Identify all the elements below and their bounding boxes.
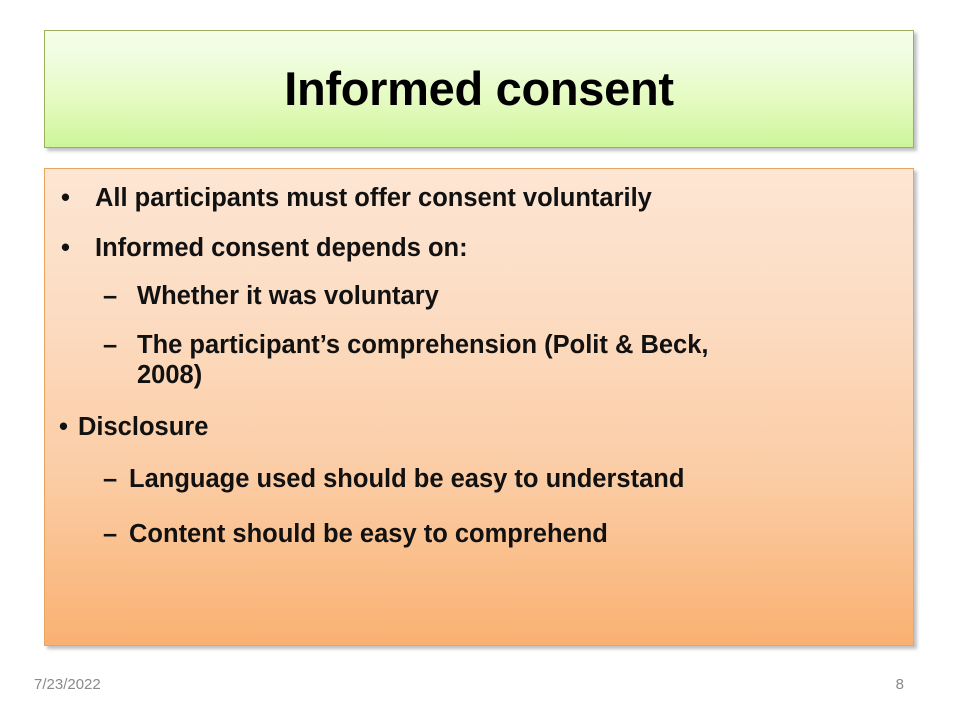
bullet-dash-icon: – [103, 464, 129, 495]
sub-list-item-label: Content should be easy to comprehend [129, 520, 608, 548]
bullet-dot-icon: • [61, 183, 83, 213]
sub-list-item[interactable]: – Language used should be easy to unders… [45, 464, 899, 495]
bullet-dash-icon: – [103, 330, 129, 361]
list-item[interactable]: • Informed consent depends on: [45, 233, 899, 263]
footer-date: 7/23/2022 [34, 676, 101, 693]
list-item[interactable]: • Disclosure [45, 412, 899, 442]
bullet-dash-icon: – [103, 519, 129, 550]
sub-list-item-label: The participant’s comprehension (Polit &… [137, 331, 709, 359]
sub-list-item[interactable]: – The participant’s comprehension (Polit… [45, 330, 899, 391]
sub-list-item[interactable]: – Content should be easy to comprehend [45, 519, 899, 550]
bullet-dot-icon: • [59, 412, 81, 442]
footer-page-number: 8 [896, 676, 904, 693]
sub-list-item-label: Language used should be easy to understa… [129, 465, 684, 493]
title-placeholder[interactable]: Informed consent [44, 30, 914, 148]
content-placeholder[interactable]: • All participants must offer consent vo… [44, 168, 914, 646]
sub-list-item[interactable]: – Whether it was voluntary [45, 281, 899, 312]
page-title: Informed consent [284, 64, 674, 113]
bullet-dot-icon: • [61, 233, 83, 263]
list-item-label: All participants must offer consent volu… [95, 184, 652, 212]
list-item-label: Disclosure [78, 413, 208, 441]
list-item[interactable]: • All participants must offer consent vo… [45, 183, 899, 213]
slide-canvas: Informed consent • All participants must… [0, 0, 960, 720]
list-item-label: Informed consent depends on: [95, 234, 468, 262]
sub-list-item-label: Whether it was voluntary [137, 282, 439, 310]
sub-list-item-wrap: 2008) [137, 360, 899, 391]
bullet-list: • All participants must offer consent vo… [45, 183, 899, 549]
bullet-dash-icon: – [103, 281, 129, 312]
